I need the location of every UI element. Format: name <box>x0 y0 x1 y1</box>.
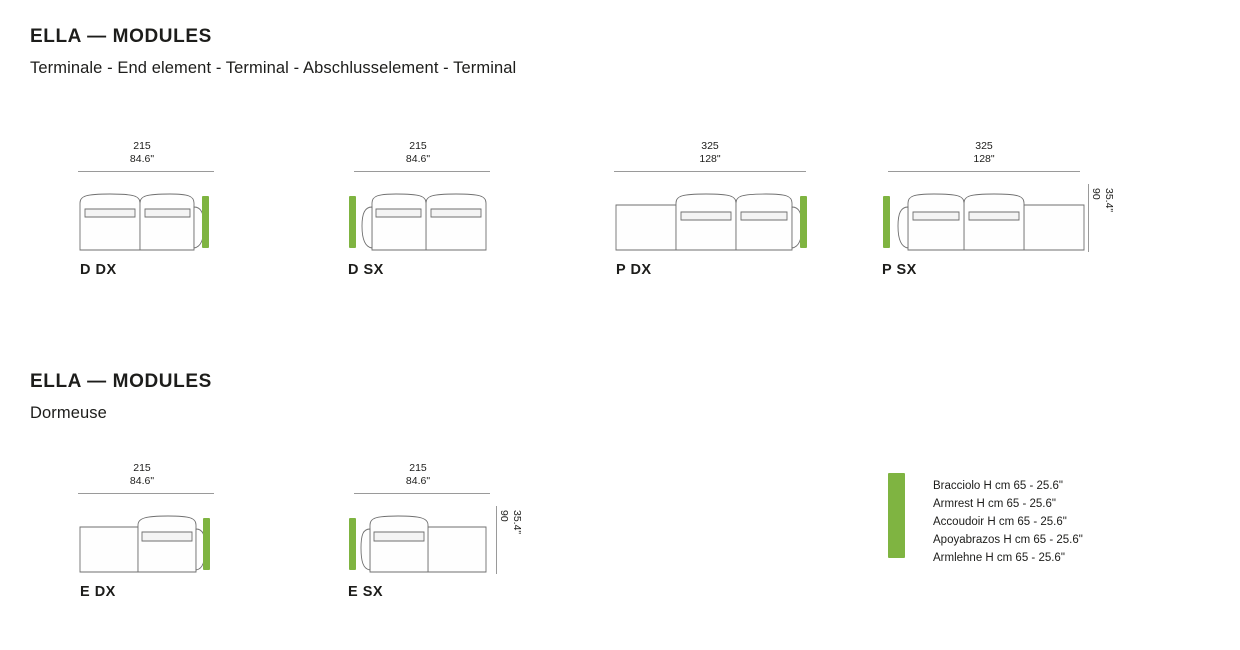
legend-color-swatch <box>888 473 905 558</box>
dimension-depth-cm: 90 <box>498 510 511 522</box>
dimension-depth-cm: 90 <box>1090 188 1103 200</box>
armrest-indicator-d-sx <box>349 196 356 248</box>
dimension-line-horizontal <box>354 493 490 494</box>
dimension-line-horizontal <box>78 171 214 172</box>
section-heading-dormeuse: ELLA — MODULES Dormeuse <box>30 371 212 423</box>
dimension-width-in: 128" <box>888 153 1080 166</box>
dimension-width-d-sx: 215 84.6" <box>354 140 482 165</box>
dimension-width-in: 84.6" <box>354 475 482 488</box>
section-title: ELLA — MODULES <box>30 26 516 48</box>
dimension-width-d-dx: 215 84.6" <box>78 140 206 165</box>
legend-line-es: Apoyabrazos H cm 65 - 25.6" <box>933 531 1083 549</box>
dimension-line-horizontal <box>354 171 490 172</box>
dimension-width-in: 128" <box>614 153 806 166</box>
module-label-d-sx: D SX <box>348 262 384 278</box>
dimension-width-cm: 215 <box>78 140 206 153</box>
sofa-diagram-e-dx <box>78 513 206 575</box>
dimension-line-horizontal <box>614 171 806 172</box>
armrest-indicator-d-dx <box>202 196 209 248</box>
dimension-width-p-dx: 325 128" <box>614 140 806 165</box>
dimension-width-in: 84.6" <box>354 153 482 166</box>
section-subtitle: Terminale - End element - Terminal - Abs… <box>30 59 516 78</box>
sofa-diagram-p-sx <box>894 191 1086 253</box>
section-heading-terminale: ELLA — MODULES Terminale - End element -… <box>30 26 516 78</box>
dimension-depth-in: 35.4" <box>1103 188 1116 212</box>
dimension-width-cm: 215 <box>354 462 482 475</box>
dimension-line-horizontal <box>78 493 214 494</box>
dimension-width-cm: 325 <box>888 140 1080 153</box>
sofa-diagram-p-dx <box>614 191 806 253</box>
legend-line-it: Bracciolo H cm 65 - 25.6" <box>933 477 1083 495</box>
armrest-indicator-e-sx <box>349 518 356 570</box>
section-subtitle: Dormeuse <box>30 404 212 423</box>
dimension-line-horizontal <box>888 171 1080 172</box>
armrest-indicator-e-dx <box>203 518 210 570</box>
dimension-width-cm: 325 <box>614 140 806 153</box>
module-label-d-dx: D DX <box>80 262 117 278</box>
dimension-width-p-sx: 325 128" <box>888 140 1080 165</box>
sofa-diagram-e-sx <box>360 513 488 575</box>
dimension-width-e-sx: 215 84.6" <box>354 462 482 487</box>
module-label-p-dx: P DX <box>616 262 652 278</box>
module-label-e-sx: E SX <box>348 584 383 600</box>
sofa-diagram-d-dx <box>78 191 206 253</box>
module-label-e-dx: E DX <box>80 584 116 600</box>
dimension-width-in: 84.6" <box>78 153 206 166</box>
module-label-p-sx: P SX <box>882 262 917 278</box>
legend-line-en: Armrest H cm 65 - 25.6" <box>933 495 1083 513</box>
dimension-width-cm: 215 <box>78 462 206 475</box>
dimension-width-e-dx: 215 84.6" <box>78 462 206 487</box>
legend-text-block: Bracciolo H cm 65 - 25.6" Armrest H cm 6… <box>933 473 1083 567</box>
legend-line-de: Armlehne H cm 65 - 25.6" <box>933 549 1083 567</box>
dimension-depth-in: 35.4" <box>511 510 524 534</box>
dimension-width-in: 84.6" <box>78 475 206 488</box>
sofa-diagram-d-sx <box>360 191 488 253</box>
legend-line-fr: Accoudoir H cm 65 - 25.6" <box>933 513 1083 531</box>
section-title: ELLA — MODULES <box>30 371 212 393</box>
armrest-indicator-p-dx <box>800 196 807 248</box>
armrest-indicator-p-sx <box>883 196 890 248</box>
dimension-width-cm: 215 <box>354 140 482 153</box>
legend-armrest: Bracciolo H cm 65 - 25.6" Armrest H cm 6… <box>888 473 1083 567</box>
